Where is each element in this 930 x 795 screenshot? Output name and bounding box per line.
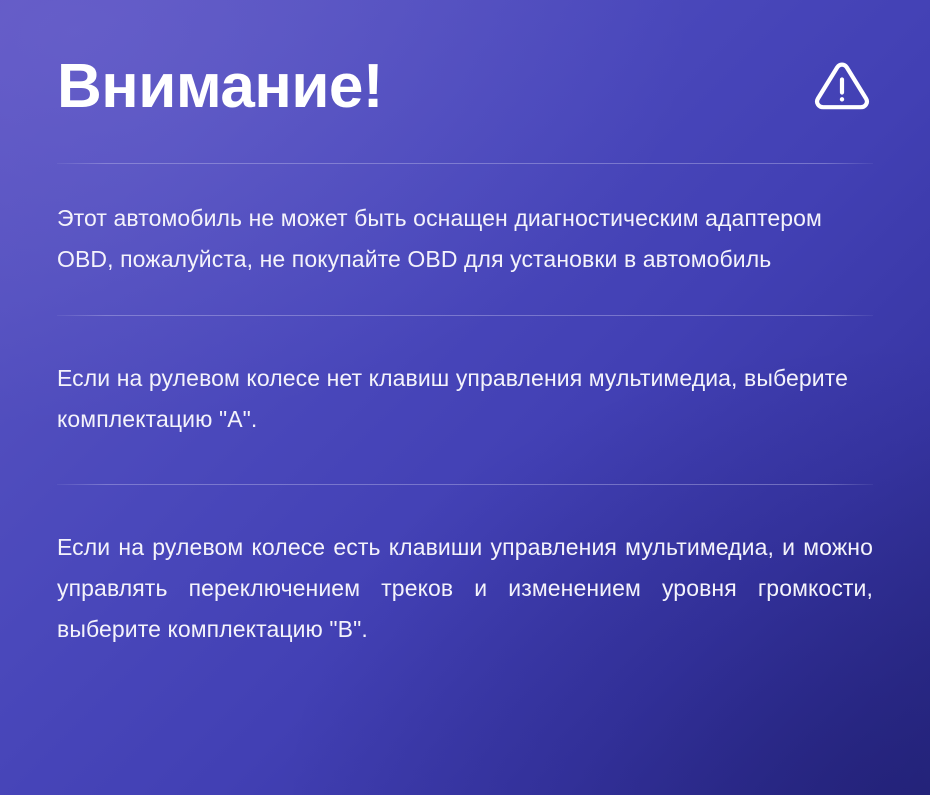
section-variant-b: Если на рулевом колесе есть клавиши упра… — [57, 485, 873, 650]
section-variant-a-text: Если на рулевом колесе нет клавиш управл… — [57, 358, 873, 440]
section-variant-a: Если на рулевом колесе нет клавиш управл… — [57, 316, 873, 484]
notice-header: Внимание! — [57, 0, 873, 163]
section-obd-warning: Этот автомобиль не может быть оснащен ди… — [57, 164, 873, 315]
page-title: Внимание! — [57, 56, 383, 118]
warning-triangle-icon — [813, 59, 871, 111]
warning-notice-card: Внимание! Этот автомобиль не может быть … — [0, 0, 930, 795]
section-variant-b-text: Если на рулевом колесе есть клавиши упра… — [57, 527, 873, 650]
notice-content: Внимание! Этот автомобиль не может быть … — [0, 0, 930, 650]
section-obd-warning-text: Этот автомобиль не может быть оснащен ди… — [57, 198, 873, 280]
